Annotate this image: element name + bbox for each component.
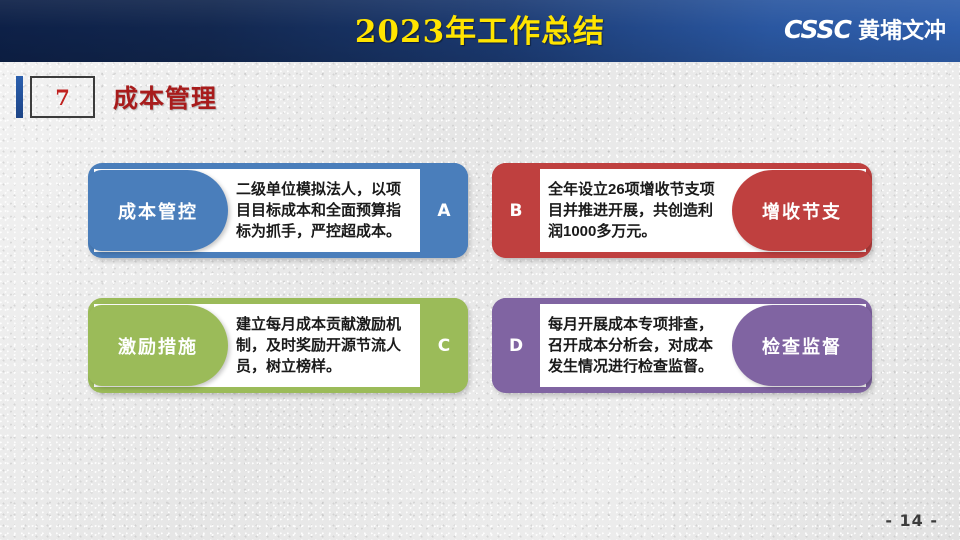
card-a-letter-badge: A [420,163,468,258]
content-card-b[interactable]: 增收节支 B 全年设立26项增收节支项目并推进开展，共创造利润1000多万元。 [492,163,872,258]
section-number-box: 7 [30,76,95,118]
card-c-body-text: 建立每月成本贡献激励机制，及时奖励开源节流人员，树立榜样。 [236,308,412,383]
page-number: - 14 - [885,511,938,530]
card-d-letter-badge: D [492,298,540,393]
slide-canvas: 2023年工作总结 CSSC 黄埔文冲 7 成本管理 成本管控 A 二级单位模拟… [0,0,960,540]
card-b-letter-badge: B [492,163,540,258]
content-card-a[interactable]: 成本管控 A 二级单位模拟法人，以项目目标成本和全面预算指标为抓手，严控超成本。 [88,163,468,258]
card-c-letter-badge: C [420,298,468,393]
card-d-inner: 检查监督 D 每月开展成本专项排查，召开成本分析会，对成本发生情况进行检查监督。 [492,298,872,393]
card-d-body-text: 每月开展成本专项排查，召开成本分析会，对成本发生情况进行检查监督。 [548,308,724,383]
card-b-body-text: 全年设立26项增收节支项目并推进开展，共创造利润1000多万元。 [548,173,724,248]
card-b-inner: 增收节支 B 全年设立26项增收节支项目并推进开展，共创造利润1000多万元。 [492,163,872,258]
content-card-d[interactable]: 检查监督 D 每月开展成本专项排查，召开成本分析会，对成本发生情况进行检查监督。 [492,298,872,393]
card-b-label: 增收节支 [732,170,872,251]
card-a-label: 成本管控 [88,170,228,251]
logo-company-name: 黄埔文冲 [858,13,946,45]
card-c-inner: 激励措施 C 建立每月成本贡献激励机制，及时奖励开源节流人员，树立榜样。 [88,298,468,393]
title-banner: 2023年工作总结 CSSC 黄埔文冲 [0,0,960,62]
section-title: 成本管理 [113,76,217,118]
section-accent-bar [16,76,23,118]
logo-mark-cssc: CSSC [784,15,851,44]
section-heading: 7 成本管理 [16,76,217,118]
card-c-label: 激励措施 [88,305,228,386]
card-a-body-text: 二级单位模拟法人，以项目目标成本和全面预算指标为抓手，严控超成本。 [236,173,412,248]
content-card-c[interactable]: 激励措施 C 建立每月成本贡献激励机制，及时奖励开源节流人员，树立榜样。 [88,298,468,393]
card-a-inner: 成本管控 A 二级单位模拟法人，以项目目标成本和全面预算指标为抓手，严控超成本。 [88,163,468,258]
company-logo: CSSC 黄埔文冲 [784,13,946,45]
card-d-label: 检查监督 [732,305,872,386]
